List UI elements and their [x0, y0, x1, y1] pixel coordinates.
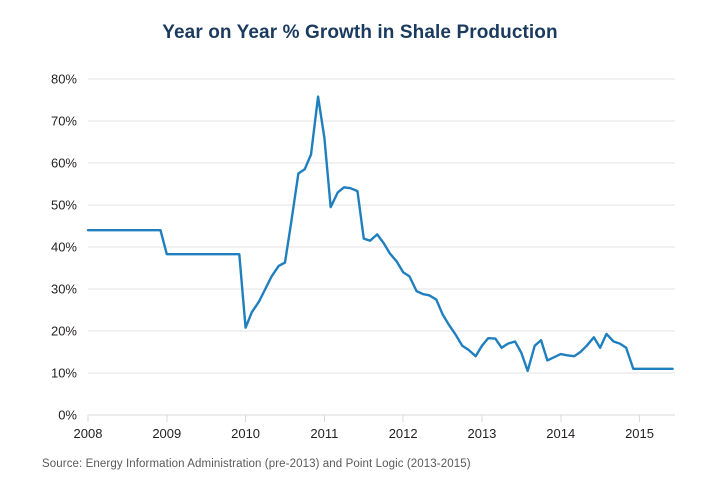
source-note: Source: Energy Information Administratio…: [42, 458, 471, 470]
y-axis-tick-label: 40%: [51, 240, 77, 255]
y-axis-tick-label: 20%: [51, 324, 77, 339]
x-axis: [88, 415, 640, 422]
gridlines: [88, 79, 675, 415]
line-chart-plot: 0%10%20%30%40%50%60%70%80% 2008200920102…: [0, 0, 720, 500]
y-axis-tick-label: 10%: [51, 366, 77, 381]
x-axis-tick-label: 2013: [467, 426, 496, 441]
x-axis-tick-label: 2015: [625, 426, 654, 441]
x-axis-tick-label: 2010: [231, 426, 260, 441]
y-axis-tick-label: 80%: [51, 72, 77, 87]
y-axis-tick-label: 60%: [51, 156, 77, 171]
x-axis-tick-labels: 20082009201020112012201320142015: [74, 426, 654, 441]
y-axis-tick-label: 70%: [51, 114, 77, 129]
x-axis-tick-label: 2011: [310, 426, 338, 441]
x-axis-tick-label: 2008: [74, 426, 103, 441]
data-line: [88, 97, 673, 371]
y-axis-tick-label: 30%: [51, 282, 77, 297]
chart-container: Year on Year % Growth in Shale Productio…: [0, 0, 720, 500]
x-axis-tick-label: 2009: [152, 426, 181, 441]
y-axis-tick-labels: 0%10%20%30%40%50%60%70%80%: [51, 72, 77, 423]
data-series: [88, 97, 673, 371]
y-axis-tick-label: 0%: [58, 408, 77, 423]
x-axis-tick-label: 2014: [546, 426, 575, 441]
x-axis-tick-label: 2012: [389, 426, 418, 441]
y-axis-tick-label: 50%: [51, 198, 77, 213]
